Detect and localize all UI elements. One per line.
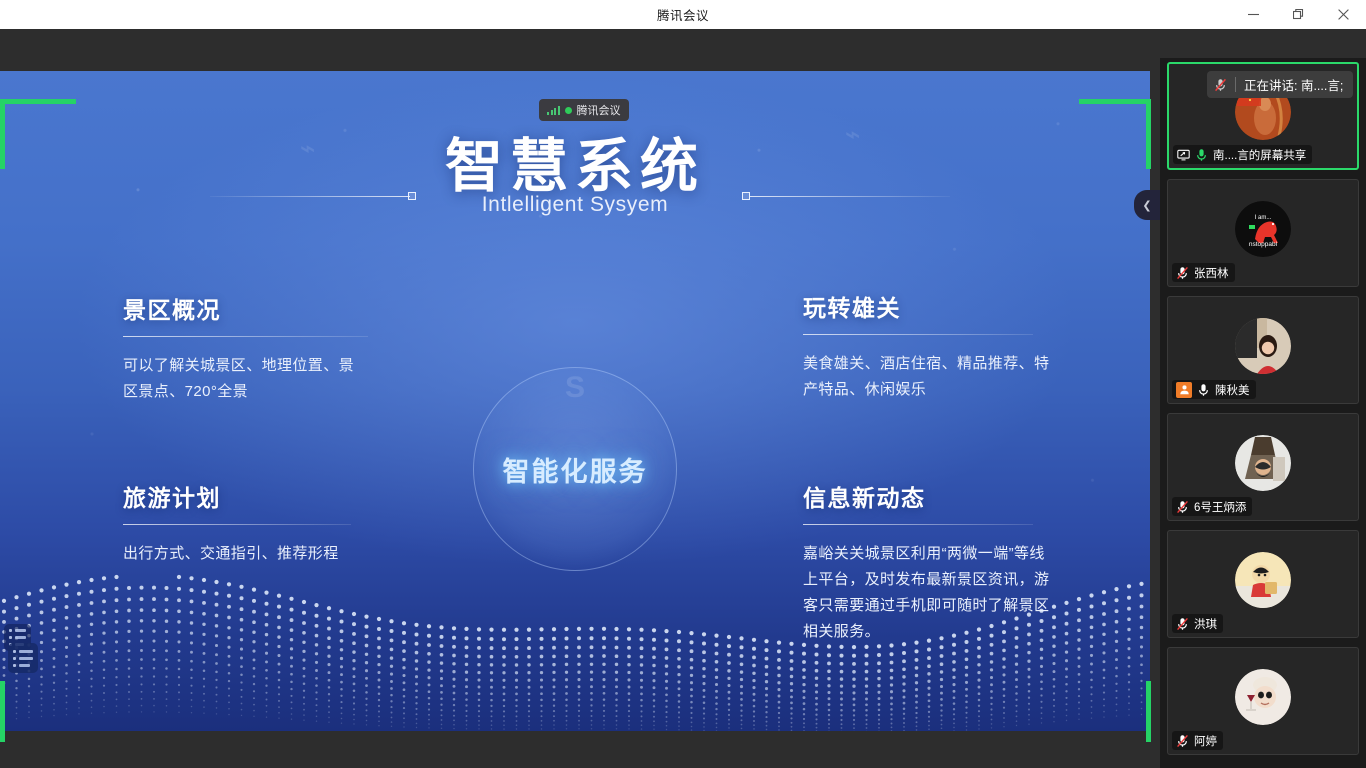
sharing-app-badge: 腾讯会议 [539,99,629,121]
svg-text:I am...: I am... [1255,215,1272,221]
panel-body: 出行方式、交通指引、推荐形程 [123,541,368,567]
window-title-bar: 腾讯会议 [0,0,1366,29]
slide-title: 智慧系统 [0,119,1150,203]
panel-rule [123,336,368,337]
window-controls [1231,0,1366,29]
avatar [1235,435,1291,491]
panel-body: 可以了解关城景区、地理位置、景区景点、720°全景 [123,353,368,405]
decor-square-left [408,192,416,200]
mic-muted-icon [1214,78,1227,92]
panel-scenic-overview: 景区概况 可以了解关城景区、地理位置、景区景点、720°全景 [123,291,368,405]
participant-label: 阿婷 [1172,731,1223,750]
panel-play-xiongguan: 玩转雄关 美食雄关、酒店住宿、精品推荐、特产特品、休闲娱乐 [803,289,1053,403]
maximize-restore-button[interactable] [1276,0,1321,29]
center-circle: 智能化服务 [473,367,677,571]
shared-screen-stage: ⌁ ⌁ 智慧系统 Intlelligent Sysyem S 智能化服务 景区概… [0,29,1160,742]
participant-rail[interactable]: 南....言的屏幕共享 I am... nstoppabl [1160,58,1366,768]
participant-label: 洪琪 [1172,614,1223,633]
participant-label: 南....言的屏幕共享 [1173,145,1312,164]
host-badge-icon [1176,382,1192,398]
mic-on-icon [1195,148,1208,162]
window-title: 腾讯会议 [657,5,709,24]
participant-tile[interactable]: 陳秋美 [1167,296,1359,404]
participant-tile[interactable]: 阿婷 [1167,647,1359,755]
participant-name: 陳秋美 [1215,382,1250,398]
participant-tile[interactable]: 6号王炳添 [1167,413,1359,521]
panel-rule [803,334,1033,335]
mic-muted-icon [1176,266,1189,280]
participant-label: 张西林 [1172,263,1235,282]
mic-muted-icon [1176,500,1189,514]
participant-name: 张西林 [1194,265,1229,281]
signal-bars-icon [547,106,560,115]
decor-line-left [210,196,410,197]
avatar [1235,669,1291,725]
participant-label: 陳秋美 [1172,380,1256,399]
participant-name: 6号王炳添 [1194,499,1246,515]
mic-muted-icon [1176,617,1189,631]
participant-tile[interactable]: 洪琪 [1167,530,1359,638]
screen-share-icon [1177,148,1190,162]
panel-heading: 信息新动态 [803,479,1053,513]
panel-travel-plan: 旅游计划 出行方式、交通指引、推荐形程 [123,479,368,567]
speaking-text: 正在讲话: 南....言; [1244,75,1343,94]
participant-name: 阿婷 [1194,733,1217,749]
avatar [1235,318,1291,374]
chevron-left-icon[interactable]: ❮ [1134,190,1160,220]
divider [1235,77,1236,92]
panel-heading: 玩转雄关 [803,289,1053,323]
close-button[interactable] [1321,0,1366,29]
panel-body: 美食雄关、酒店住宿、精品推荐、特产特品、休闲娱乐 [803,351,1053,403]
participant-tile[interactable]: I am... nstoppabl 张西林 [1167,179,1359,287]
avatar [1235,552,1291,608]
panel-rule [123,524,351,525]
participant-name: 洪琪 [1194,616,1217,632]
mic-on-icon [1197,383,1210,397]
panel-rule [803,524,1033,525]
shared-slide: ⌁ ⌁ 智慧系统 Intlelligent Sysyem S 智能化服务 景区概… [0,71,1150,731]
minimize-button[interactable] [1231,0,1276,29]
slide-subtitle: Intlelligent Sysyem [0,193,1150,217]
participant-name: 南....言的屏幕共享 [1213,147,1306,163]
decor-line-right [750,196,950,197]
decor-square-right [742,192,750,200]
particle-wave-graphic [0,571,1150,731]
svg-text:nstoppabl: nstoppabl [1249,241,1278,248]
widget-list-icon-2[interactable] [8,643,38,673]
meeting-body: ⌁ ⌁ 智慧系统 Intlelligent Sysyem S 智能化服务 景区概… [0,29,1366,768]
avatar: I am... nstoppabl [1235,201,1291,257]
mic-muted-icon [1176,734,1189,748]
sharing-app-label: 腾讯会议 [577,102,621,118]
status-dot-icon [565,107,572,114]
panel-heading: 景区概况 [123,291,368,325]
speaking-indicator: 正在讲话: 南....言; [1207,71,1353,98]
panel-heading: 旅游计划 [123,479,368,513]
participant-label: 6号王炳添 [1172,497,1252,516]
center-circle-label: 智能化服务 [503,450,648,489]
